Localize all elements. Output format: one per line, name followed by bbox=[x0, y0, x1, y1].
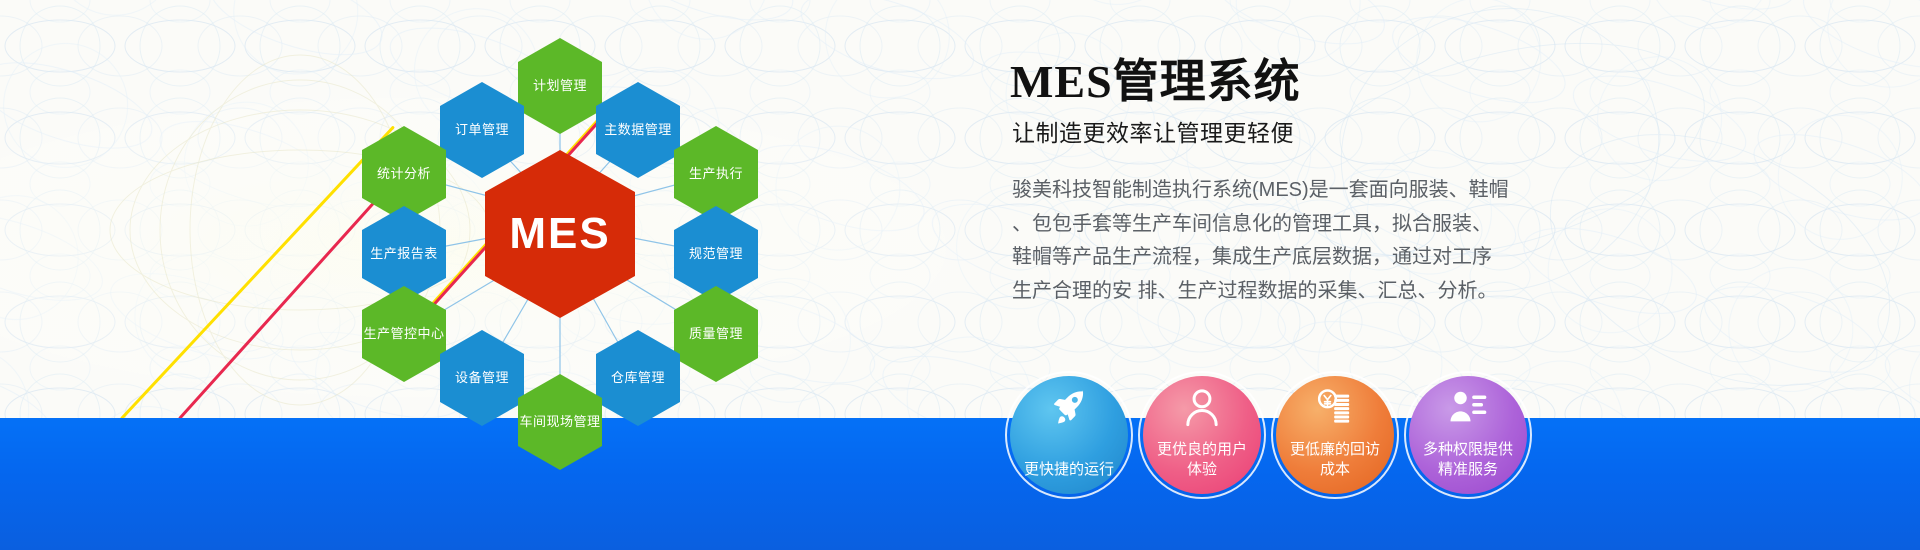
hex-node-label: 仓库管理 bbox=[611, 370, 665, 385]
feature-badge-faster-operation[interactable]: 更快捷的运行 bbox=[1010, 376, 1128, 494]
hex-node-label: 订单管理 bbox=[455, 122, 509, 137]
bottom-blue-band bbox=[0, 418, 1920, 550]
hex-node-label: 生产报告表 bbox=[370, 246, 438, 261]
feature-badge-label: 更低廉的回访 成本 bbox=[1290, 440, 1380, 480]
user-icon bbox=[1182, 388, 1222, 428]
description-line: 、包包手套等生产车间信息化的管理工具，拟合服装、 bbox=[1012, 208, 1572, 242]
hex-node-label: 生产管控中心 bbox=[363, 326, 444, 341]
page-title: MES管理系统 bbox=[1010, 58, 1610, 106]
description-line: 鞋帽等产品生产流程，集成生产底层数据，通过对工序 bbox=[1012, 241, 1572, 275]
feature-badge-permissions[interactable]: 多种权限提供 精准服务 bbox=[1409, 376, 1527, 494]
hex-node-label: 主数据管理 bbox=[604, 122, 672, 137]
hex-node-label: 设备管理 bbox=[455, 370, 509, 385]
description-line: 骏美科技智能制造执行系统(MES)是一套面向服装、鞋帽 bbox=[1012, 174, 1572, 208]
description-line: 生产合理的安 排、生产过程数据的采集、汇总、分析。 bbox=[1012, 275, 1572, 309]
feature-badge-label: 更优良的用户 体验 bbox=[1157, 440, 1247, 480]
hex-node-label: 生产执行 bbox=[689, 166, 743, 181]
hex-node-label: 统计分析 bbox=[377, 166, 431, 181]
hex-node-label: 质量管理 bbox=[689, 326, 743, 341]
feature-badge-label: 更快捷的运行 bbox=[1024, 460, 1114, 480]
hex-node-label: 规范管理 bbox=[689, 246, 743, 261]
hex-node-center-label: MES bbox=[509, 208, 610, 260]
feature-badge-lower-cost[interactable]: 更低廉的回访 成本 bbox=[1276, 376, 1394, 494]
feature-badge-label: 多种权限提供 精准服务 bbox=[1423, 440, 1513, 480]
banner-text-column: MES管理系统 让制造更效率让管理更轻便 骏美科技智能制造执行系统(MES)是一… bbox=[1010, 58, 1610, 309]
feature-badges: 更快捷的运行 更优良的用户 体验 bbox=[1010, 376, 1527, 494]
mes-banner: MES 计划管理 订单管理 主数据管理 统计分析 生产执行 生产报告表 规范管理… bbox=[0, 0, 1920, 550]
description-paragraph: 骏美科技智能制造执行系统(MES)是一套面向服装、鞋帽 、包包手套等生产车间信息… bbox=[1012, 174, 1572, 308]
hex-node-label: 计划管理 bbox=[533, 78, 587, 93]
mes-hexagon-diagram: MES 计划管理 订单管理 主数据管理 统计分析 生产执行 生产报告表 规范管理… bbox=[330, 10, 790, 430]
rocket-icon bbox=[1049, 388, 1089, 428]
hex-node-label: 车间现场管理 bbox=[519, 414, 600, 429]
feature-badge-better-user-experience[interactable]: 更优良的用户 体验 bbox=[1143, 376, 1261, 494]
money-icon bbox=[1315, 388, 1355, 428]
page-subtitle: 让制造更效率让管理更轻便 bbox=[1012, 114, 1610, 148]
